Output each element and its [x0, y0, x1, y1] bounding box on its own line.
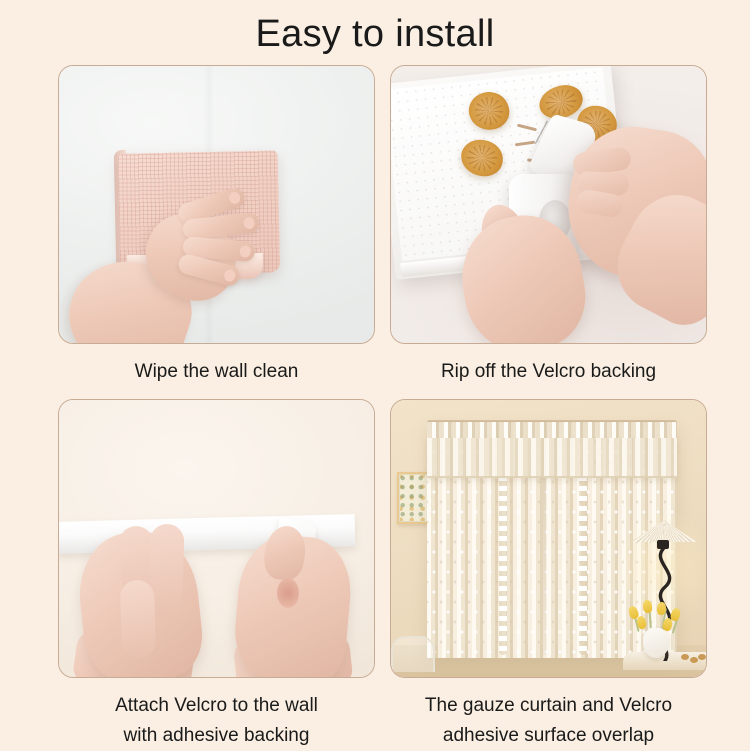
step-caption-4-line2: adhesive surface overlap: [390, 721, 707, 751]
tulip: [642, 600, 652, 614]
tulip: [636, 615, 647, 629]
decorative-nuts: [681, 654, 707, 664]
step-caption-3: Attach Velcro to the wall with adhesive …: [58, 691, 375, 751]
step-caption-3-line1: Attach Velcro to the wall: [58, 691, 375, 721]
step-card-4: The gauze curtain and Velcro adhesive su…: [390, 399, 707, 751]
curtain-pleat-header: [427, 422, 677, 438]
fingernail: [223, 268, 237, 282]
nut: [690, 657, 698, 663]
step-card-1: Wipe the wall clean: [58, 65, 375, 387]
step-caption-2: Rip off the Velcro backing: [390, 357, 707, 387]
step-image-2: [390, 65, 707, 344]
fingernail: [228, 191, 242, 206]
step-caption-1: Wipe the wall clean: [58, 357, 375, 387]
fingernail: [239, 245, 251, 258]
curtain-lace-edge: [499, 476, 507, 655]
step-caption-4: The gauze curtain and Velcro adhesive su…: [390, 691, 707, 751]
step-image-1: [58, 65, 375, 344]
curtain-lace-edge: [579, 476, 587, 655]
step-caption-4-line1: The gauze curtain and Velcro: [390, 691, 707, 721]
chair: [391, 636, 435, 672]
flower-vase: [643, 628, 669, 658]
nut: [698, 654, 706, 660]
page-title: Easy to install: [0, 12, 750, 56]
finger: [120, 579, 157, 658]
curtain-valance: [427, 438, 677, 478]
step-image-4: [390, 399, 707, 678]
pinch-gap: [277, 578, 299, 608]
step-caption-1-line1: Wipe the wall clean: [58, 357, 375, 387]
step-card-2: Rip off the Velcro backing: [390, 65, 707, 387]
fingernail: [243, 217, 255, 230]
step-caption-3-line2: with adhesive backing: [58, 721, 375, 751]
step-card-3: Attach Velcro to the wall with adhesive …: [58, 399, 375, 751]
nut: [681, 654, 689, 660]
step-caption-2-line1: Rip off the Velcro backing: [390, 357, 707, 387]
step-image-3: [58, 399, 375, 678]
